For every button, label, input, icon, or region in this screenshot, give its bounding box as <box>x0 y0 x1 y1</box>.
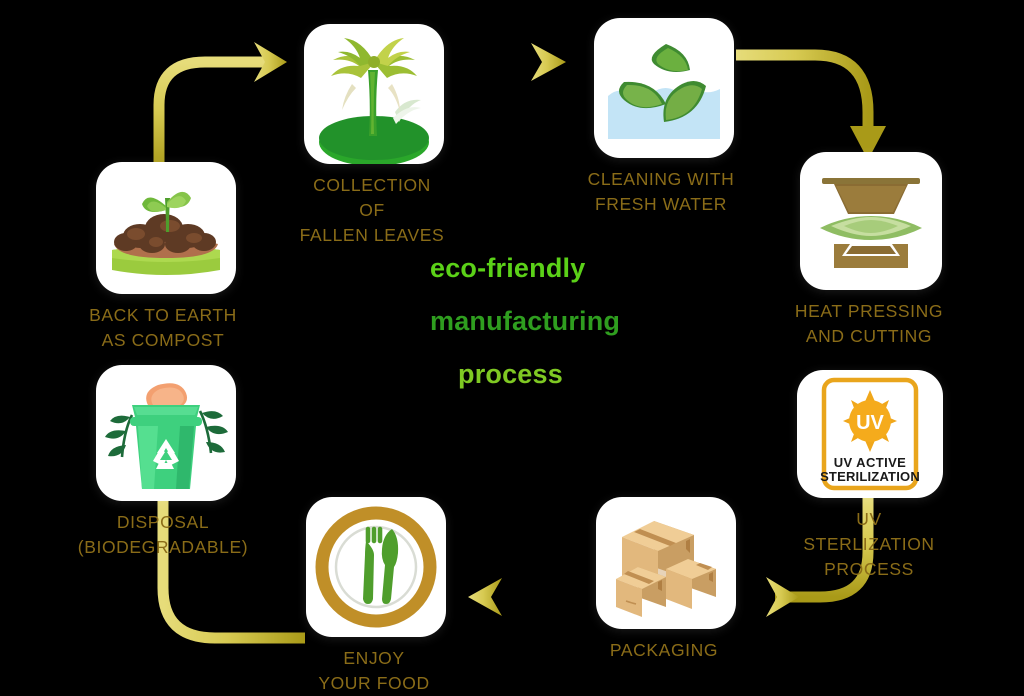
step-heatpressing-label: HEAT PRESSING AND CUTTING <box>795 299 943 349</box>
step-uv-label: UV STERLIZATION PROCESS <box>794 507 944 582</box>
arrow-compost-to-collection <box>159 42 287 170</box>
step-enjoyfood-card[interactable] <box>306 497 446 637</box>
step-cleaning[interactable]: CLEANING WITH FRESH WATER <box>586 18 736 217</box>
step-collection[interactable]: COLLECTION OF FALLEN LEAVES <box>298 24 446 248</box>
leaves-in-water-icon <box>594 18 734 158</box>
step-cleaning-label: CLEANING WITH FRESH WATER <box>588 167 735 217</box>
step-heatpressing[interactable]: HEAT PRESSING AND CUTTING <box>794 152 944 349</box>
arrow-cleaning-to-heatpressing <box>736 55 886 160</box>
leaf-sprig-left <box>105 415 132 457</box>
uv-badge-line2: STERILIZATION <box>820 469 920 484</box>
headline-line-1: eco-friendly <box>430 255 720 282</box>
headline-line-2: manufacturing <box>430 308 720 335</box>
step-uv[interactable]: UV UV ACTIVE STERILIZATION UV STERLIZATI… <box>794 370 944 582</box>
cardboard-boxes-icon <box>596 497 736 629</box>
step-packaging[interactable]: PACKAGING <box>590 497 738 663</box>
uv-badge-sun-text: UV <box>856 412 884 434</box>
step-uv-card[interactable]: UV UV ACTIVE STERILIZATION <box>797 370 943 498</box>
palm-tree-icon <box>304 24 444 164</box>
arrow-collection-to-cleaning <box>448 43 566 81</box>
sprout-compost-icon <box>96 162 236 294</box>
step-packaging-label: PACKAGING <box>610 638 718 663</box>
step-disposal-label: DISPOSAL (BIODEGRADABLE) <box>78 510 248 560</box>
leaf-sprig-right <box>200 411 228 453</box>
arrow-packaging-to-enjoyfood <box>468 578 588 616</box>
step-disposal[interactable]: DISPOSAL (BIODEGRADABLE) <box>88 365 238 560</box>
step-enjoyfood-label: ENJOY YOUR FOOD <box>318 646 429 696</box>
step-heatpressing-card[interactable] <box>800 152 942 290</box>
step-compost[interactable]: BACK TO EARTH AS COMPOST <box>88 162 238 353</box>
step-disposal-card[interactable] <box>96 365 236 501</box>
headline-line-3: process <box>430 361 720 388</box>
step-collection-card[interactable] <box>304 24 444 164</box>
step-enjoyfood[interactable]: ENJOY YOUR FOOD <box>300 497 448 696</box>
diagram-canvas: COLLECTION OF FALLEN LEAVES CLEANING WIT… <box>0 0 1024 695</box>
plate-fork-knife-icon <box>306 497 446 637</box>
step-collection-label: COLLECTION OF FALLEN LEAVES <box>298 173 446 248</box>
uv-active-sterilization-icon: UV UV ACTIVE STERILIZATION <box>797 370 943 498</box>
step-packaging-card[interactable] <box>596 497 736 629</box>
center-headline: eco-friendly manufacturing process <box>430 255 720 414</box>
step-cleaning-card[interactable] <box>594 18 734 158</box>
heat-press-icon <box>800 152 942 290</box>
recycle-bin-icon <box>96 365 236 501</box>
step-compost-card[interactable] <box>96 162 236 294</box>
uv-badge-line1: UV ACTIVE <box>834 455 906 470</box>
step-compost-label: BACK TO EARTH AS COMPOST <box>89 303 237 353</box>
